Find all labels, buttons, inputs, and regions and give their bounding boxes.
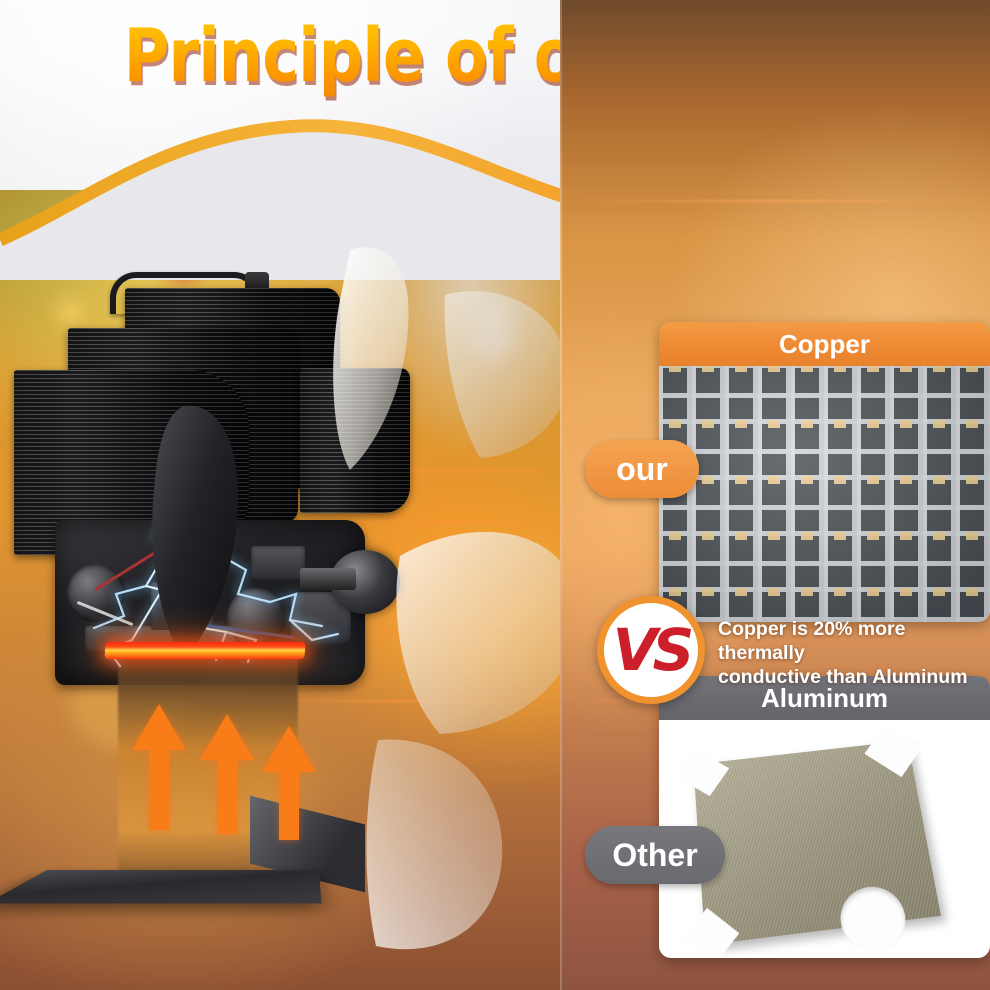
- copper-card-heading: Copper: [659, 322, 990, 366]
- thermoelectric-module-texture: [659, 366, 990, 622]
- comparison-caption: Copper is 20% more thermally conductive …: [718, 618, 990, 689]
- heat-arrow-icon: [258, 724, 320, 842]
- copper-card-image: [659, 366, 990, 622]
- plate-notch: [837, 883, 911, 956]
- aluminum-plate: [693, 740, 940, 945]
- caption-line1: Copper is 20% more thermally: [718, 618, 905, 664]
- vs-badge: VS: [597, 596, 705, 704]
- vs-label: VS: [613, 621, 690, 679]
- caption-line2: conductive than Aluminum: [718, 666, 968, 688]
- infographic-root: Principle of operation Generator Materia…: [0, 0, 990, 990]
- heat-arrow-icon: [196, 712, 258, 836]
- our-label-pill: our: [585, 440, 699, 498]
- stove-fan-illustration: [0, 250, 570, 950]
- copper-card: Copper: [659, 322, 990, 622]
- other-label-pill: Other: [585, 826, 725, 884]
- aluminum-card: Aluminum: [659, 676, 990, 958]
- fan-blade-translucent: [250, 310, 580, 950]
- heat-arrow-icon: [128, 702, 190, 832]
